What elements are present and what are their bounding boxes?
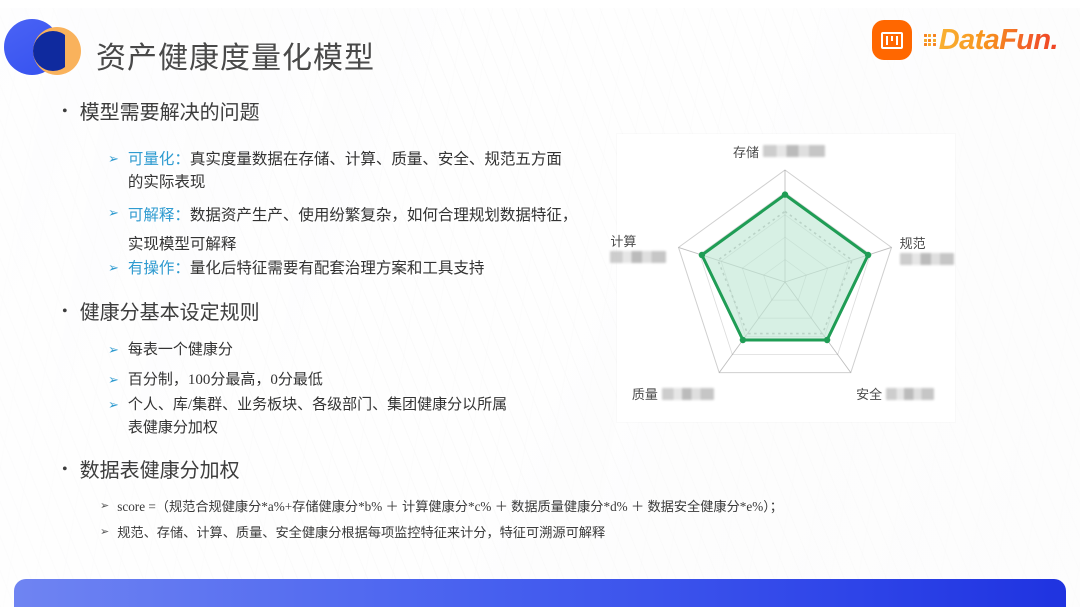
datafun-dots-icon (924, 34, 936, 46)
explanation-text: 规范、存储、计算、质量、安全健康分根据每项监控特征来计分，特征可溯源可解释 (117, 523, 605, 543)
bullet-dot: • (62, 100, 68, 125)
top-white-strip (0, 0, 1080, 8)
sub-bullet-keyword: 有操作： (128, 260, 190, 277)
section-heading-2: • 健康分基本设定规则 (62, 300, 260, 327)
arrow-icon: ➢ (108, 257, 119, 279)
sub-bullet-2-2: ➢ 百分制，100分最高，0分最低 (108, 369, 578, 392)
slide-content: • 模型需要解决的问题 ➢ 可量化：真实度量数据在存储、计算、质量、安全、规范五… (0, 0, 1080, 607)
arrow-icon: ➢ (108, 202, 119, 224)
formula-text: score =（规范合规健康分*a%+存储健康分*b% ＋ 计算健康分*c% ＋… (117, 497, 783, 517)
sub-bullet-2-3: ➢ 个人、库/集群、业务板块、各级部门、集团健康分以所属表健康分加权 (108, 394, 508, 439)
sub-bullet-text: 个人、库/集群、业务板块、各级部门、集团健康分以所属表健康分加权 (128, 394, 508, 439)
brand-logos: DataFun. (872, 20, 1058, 60)
page-title: 资产健康度量化模型 (96, 33, 375, 77)
bullet-dot: • (62, 458, 68, 483)
sub-bullet-text: 真实度量数据在存储、计算、质量、安全、规范五方面的实际表现 (128, 151, 562, 191)
arrow-icon: ➢ (100, 497, 109, 516)
arrow-icon: ➢ (100, 523, 109, 542)
sub-bullet-3-1: ➢ score =（规范合规健康分*a%+存储健康分*b% ＋ 计算健康分*c%… (100, 497, 1060, 517)
bullet-dot: • (62, 300, 68, 325)
arrow-icon: ➢ (108, 339, 119, 361)
xiaomi-mi-icon (872, 20, 912, 60)
arrow-icon: ➢ (108, 369, 119, 391)
section-heading-3: • 数据表健康分加权 (62, 458, 240, 485)
sub-bullet-1-2: ➢ 可解释：数据资产生产、使用纷繁复杂，如何合理规划数据特征，实现模型可解释 (108, 202, 578, 259)
brand-circles-logo (4, 19, 82, 75)
sub-bullet-3-2: ➢ 规范、存储、计算、质量、安全健康分根据每项监控特征来计分，特征可溯源可解释 (100, 523, 1000, 543)
sub-bullet-keyword: 可解释： (128, 207, 190, 224)
datafun-logo: DataFun. (924, 24, 1058, 57)
section-heading-text: 模型需要解决的问题 (80, 100, 260, 127)
datafun-wordmark: DataFun. (939, 24, 1058, 57)
section-heading-text: 数据表健康分加权 (80, 458, 240, 485)
sub-bullet-text: 百分制，100分最高，0分最低 (128, 369, 323, 392)
bottom-accent-bar (14, 579, 1066, 607)
arrow-icon: ➢ (108, 394, 119, 416)
sub-bullet-2-1: ➢ 每表一个健康分 (108, 339, 578, 362)
section-heading-text: 健康分基本设定规则 (80, 300, 260, 327)
sub-bullet-keyword: 可量化： (128, 151, 190, 168)
sub-bullet-text: 每表一个健康分 (128, 339, 233, 362)
arrow-icon: ➢ (108, 148, 119, 170)
sub-bullet-text: 数据资产生产、使用纷繁复杂，如何合理规划数据特征，实现模型可解释 (128, 207, 578, 253)
sub-bullet-1-3: ➢ 有操作：量化后特征需要有配套治理方案和工具支持 (108, 257, 578, 280)
sub-bullet-text: 量化后特征需要有配套治理方案和工具支持 (190, 260, 485, 277)
sub-bullet-1-1: ➢ 可量化：真实度量数据在存储、计算、质量、安全、规范五方面的实际表现 (108, 148, 568, 195)
section-heading-1: • 模型需要解决的问题 (62, 100, 260, 127)
mi-glyph (881, 32, 903, 49)
slide-canvas: 资产健康度量化模型 DataFun. • 模型需要解决的问题 ➢ 可量化：真实度… (0, 0, 1080, 607)
